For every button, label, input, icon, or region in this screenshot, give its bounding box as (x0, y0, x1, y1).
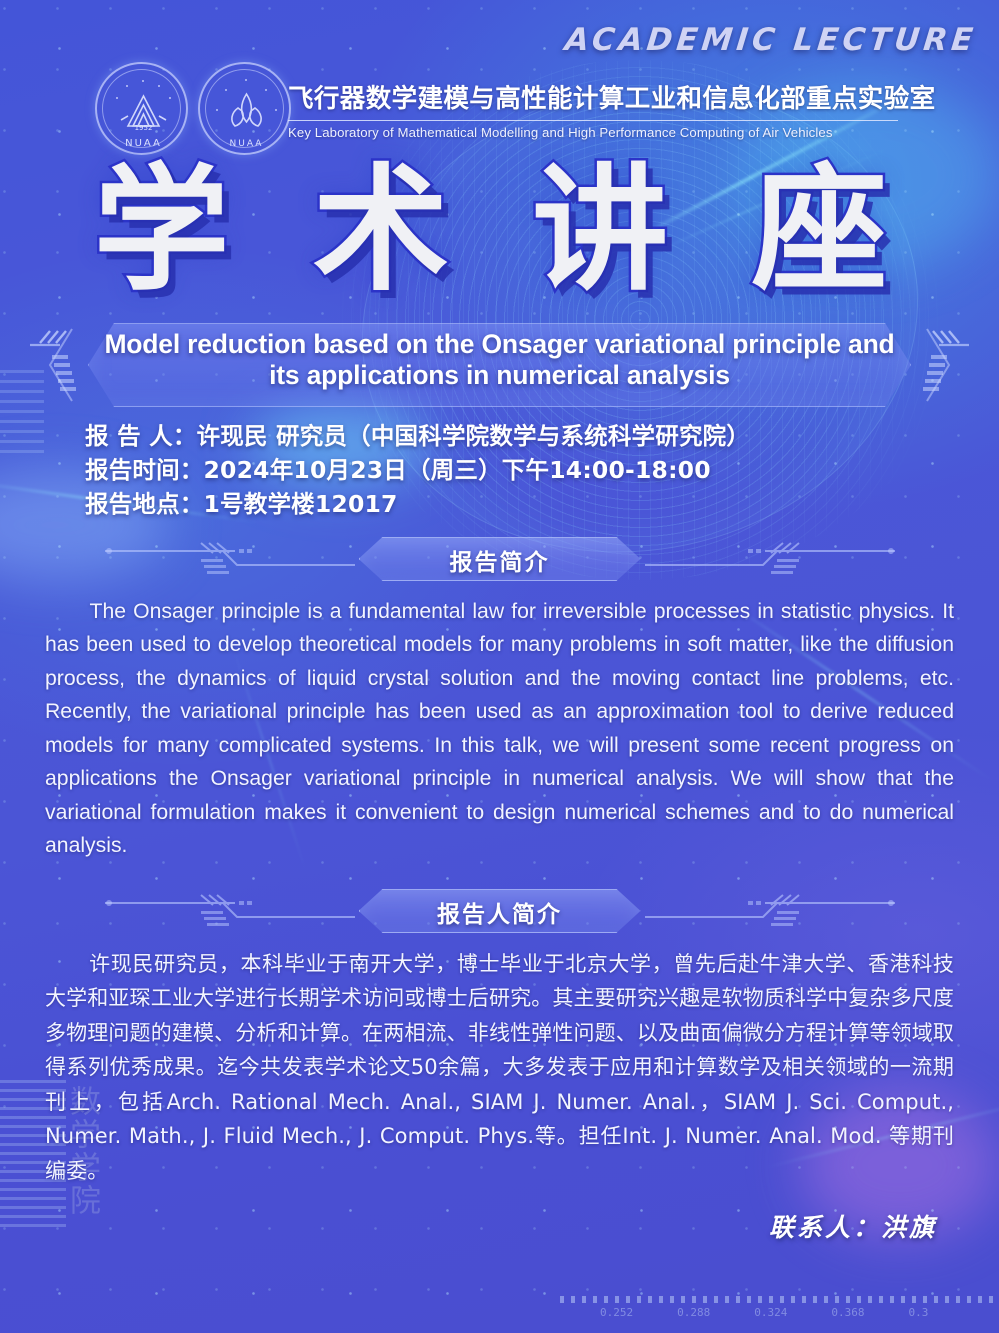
page-title: 学 术 讲 座 (0, 158, 999, 305)
talk-info-block: 报 告 人：许现民 研究员（中国科学院数学与系统科学研究院） 报告时间：2024… (85, 419, 999, 521)
footer-tick-marks (560, 1296, 999, 1303)
footer-number: 0.324 (754, 1306, 787, 1319)
time-line: 报告时间：2024年10月23日（周三）下午14:00-18:00 (85, 453, 999, 487)
tech-wing-right-icon (645, 891, 895, 931)
lab-name-chinese: 飞行器数学建模与高性能计算工业和信息化部重点实验室 (288, 78, 898, 115)
tech-wing-left-icon (105, 539, 355, 579)
tech-wing-right-icon (645, 539, 895, 579)
footer-number: 0.252 (600, 1306, 633, 1319)
logo-group: 1952 NUAA NUAA (95, 62, 291, 155)
svg-text:NUAA: NUAA (230, 139, 264, 149)
footer-number: 0.368 (831, 1306, 864, 1319)
lab-title-block: 飞行器数学建模与高性能计算工业和信息化部重点实验室 Key Laboratory… (288, 78, 898, 140)
laboratory-seal-icon: NUAA (198, 62, 291, 155)
poster-root: 数学学院 0.252 0.288 0.324 0.368 0.3 ACADEMI… (0, 0, 999, 1333)
speaker-line: 报 告 人：许现民 研究员（中国科学院数学与系统科学研究院） (85, 419, 999, 453)
bio-heading-label: 报告人简介 (359, 895, 641, 929)
section-header-abstract: 报告简介 (0, 537, 999, 583)
footer-number: 0.288 (677, 1306, 710, 1319)
tech-bracket-right-icon (913, 327, 969, 403)
svg-text:NUAA: NUAA (125, 138, 162, 149)
venue-line: 报告地点：1号教学楼12017 (85, 487, 999, 521)
poster-header: ACADEMIC LECTURE 1952 NUAA (0, 0, 999, 152)
lab-divider (288, 120, 898, 121)
tech-wing-left-icon (105, 891, 355, 931)
lab-name-english: Key Laboratory of Mathematical Modelling… (288, 125, 898, 140)
abstract-paragraph: The Onsager principle is a fundamental l… (45, 595, 954, 863)
abstract-heading-label: 报告简介 (359, 543, 641, 577)
section-header-bio: 报告人简介 (0, 889, 999, 935)
contact-person: 联系人：洪旗 (769, 1208, 937, 1244)
svg-text:1952: 1952 (135, 124, 153, 132)
bio-body: 许现民研究员，本科毕业于南开大学，博士毕业于北京大学，曾先后赴牛津大学、香港科技… (45, 947, 954, 1189)
abstract-body: The Onsager principle is a fundamental l… (45, 595, 954, 863)
footer-number: 0.3 (909, 1306, 929, 1319)
talk-title-english: Model reduction based on the Onsager var… (98, 329, 901, 391)
bio-paragraph: 许现民研究员，本科毕业于南开大学，博士毕业于北京大学，曾先后赴牛津大学、香港科技… (45, 947, 954, 1189)
footer-number-strip: 0.252 0.288 0.324 0.368 0.3 (600, 1306, 999, 1319)
talk-title-banner: Model reduction based on the Onsager var… (28, 323, 971, 407)
tech-bracket-left-icon (30, 327, 86, 403)
eyebrow-academic-lecture: ACADEMIC LECTURE (563, 22, 978, 58)
nuaa-university-seal-icon: 1952 NUAA (95, 62, 188, 155)
